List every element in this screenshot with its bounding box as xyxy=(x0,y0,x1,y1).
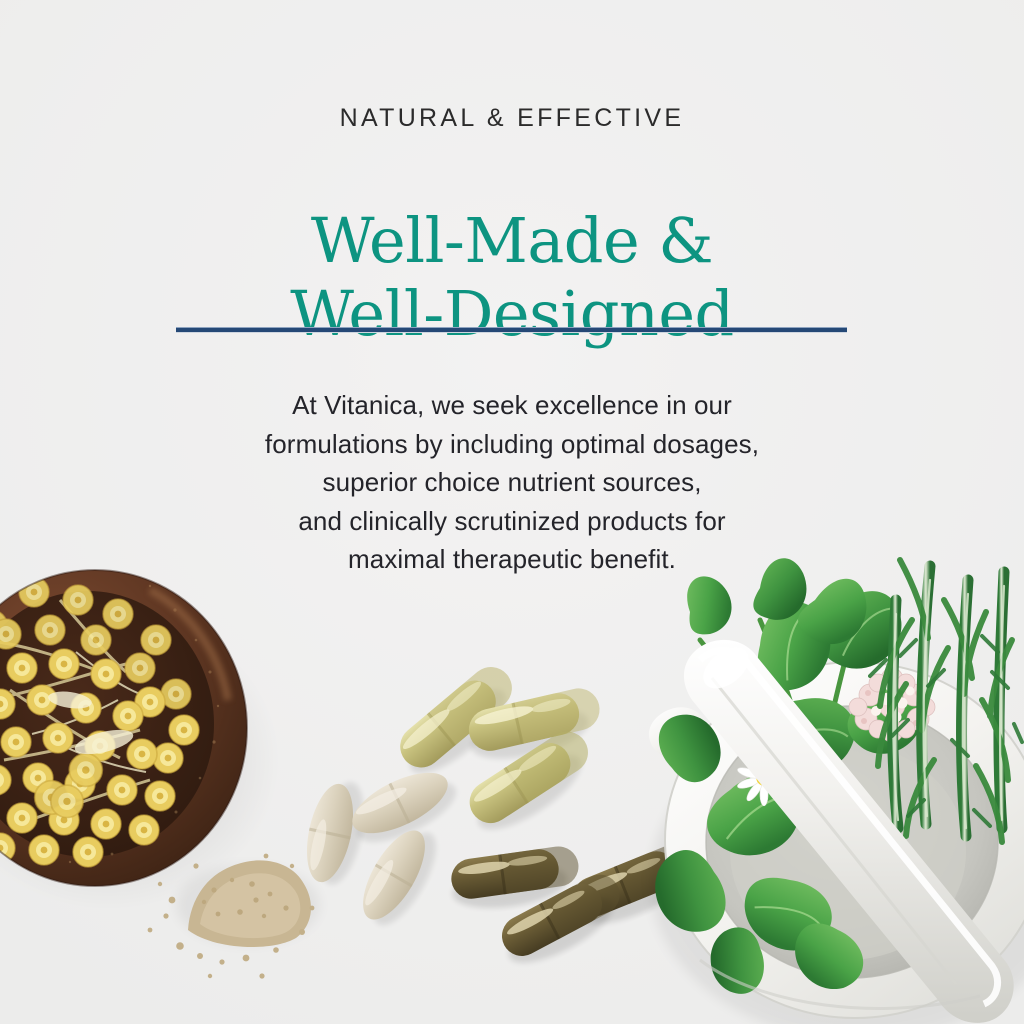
eyebrow-text: NATURAL & EFFECTIVE xyxy=(0,104,1024,133)
mortar-and-pestle-group xyxy=(649,551,1024,1024)
body-line-1: At Vitanica, we seek excellence in our xyxy=(0,386,1024,425)
body-line-3: superior choice nutrient sources, xyxy=(0,463,1024,502)
body-line-2: formulations by including optimal dosage… xyxy=(0,425,1024,464)
body-line-5: maximal therapeutic benefit. xyxy=(0,540,1024,579)
headline-line-2: Well-Designed xyxy=(0,277,1024,350)
headline-line-1: Well-Made & xyxy=(311,204,713,277)
navy-rule-divider xyxy=(176,327,847,333)
body-paragraph: At Vitanica, we seek excellence in our f… xyxy=(0,386,1024,579)
promo-banner: NATURAL & EFFECTIVE Well-Made & Well-Des… xyxy=(0,0,1024,1024)
body-line-4: and clinically scrutinized products for xyxy=(0,502,1024,541)
